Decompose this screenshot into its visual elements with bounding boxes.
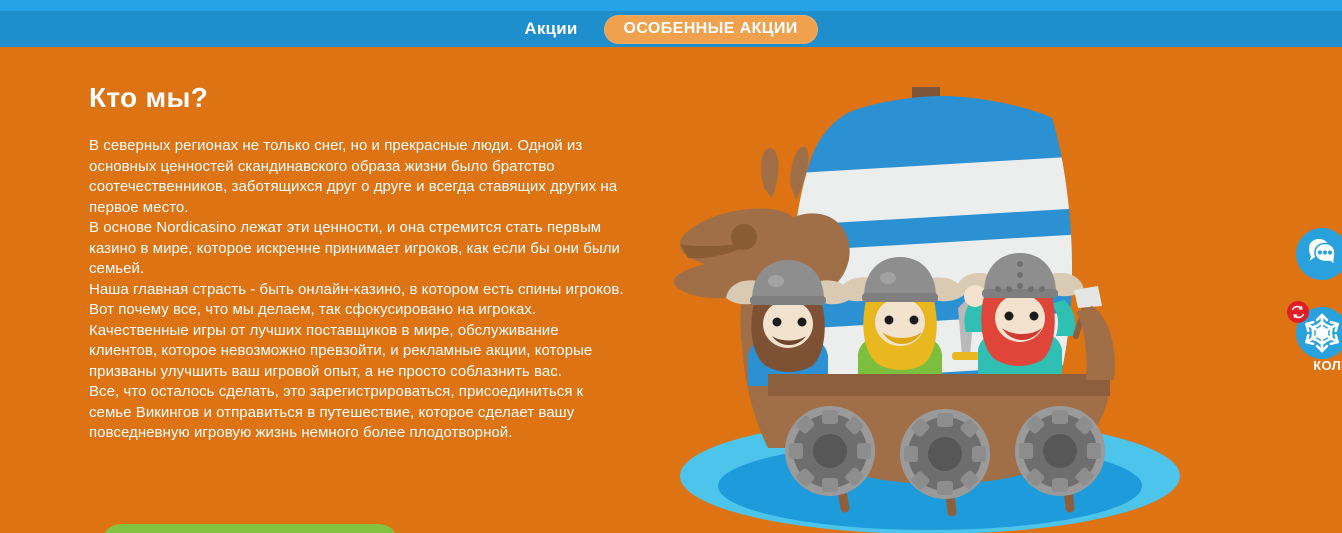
shield-3 (1015, 406, 1105, 496)
cta-register-button[interactable] (100, 524, 400, 533)
shields-row (785, 406, 1105, 499)
chat-bubbles-icon (1296, 228, 1342, 280)
hull-railing (768, 374, 1110, 396)
viking2-eye-left (885, 316, 894, 325)
viking2-helmet-band (862, 293, 938, 302)
wheel-of-fortune-button[interactable] (1296, 307, 1342, 359)
shield-1 (785, 406, 875, 496)
viking3-helmet-band (982, 289, 1058, 298)
wheel-label: КОЛЕ (1313, 358, 1342, 373)
about-paragraph-3: Наша главная страсть - быть онлайн-казин… (89, 280, 629, 301)
viking1-eye-right (798, 318, 807, 327)
nav-items-container: Акции ОСОБЕННЫЕ АКЦИИ (0, 11, 1342, 47)
viking2-helmet-shine (880, 272, 896, 284)
chat-support-button[interactable] (1296, 228, 1342, 280)
about-paragraph-1: В северных регионах не только снег, но и… (89, 136, 629, 218)
viking3-eye-right (1030, 312, 1039, 321)
primary-nav-bar: Акции ОСОБЕННЫЕ АКЦИИ (0, 11, 1342, 47)
dragon-horn-left (761, 148, 779, 198)
nav-link-promotions[interactable]: Акции (524, 20, 577, 38)
page-title: Кто мы? (89, 82, 629, 114)
viking3-eye-left (1005, 312, 1014, 321)
nav-pill-special-promotions[interactable]: ОСОБЕННЫЕ АКЦИИ (604, 15, 818, 44)
viking2-eye-right (910, 316, 919, 325)
hull-stern (1076, 306, 1115, 380)
sync-icon (1290, 304, 1306, 320)
top-accent-strip (0, 0, 1342, 11)
viking1-eye-left (773, 318, 782, 327)
about-paragraph-2: В основе Nordicasino лежат эти ценности,… (89, 218, 629, 280)
viking-longship-illustration (640, 56, 1210, 533)
viking2-sword-hilt (952, 352, 980, 360)
viking1-helmet-shine (768, 275, 784, 287)
about-us-content-column: Кто мы? В северных регионах не только сн… (89, 82, 629, 444)
viking1-helmet-band (750, 296, 826, 305)
wheel-badge[interactable] (1287, 301, 1309, 323)
about-paragraph-5: Качественные игры от лучших поставщиков … (89, 321, 629, 383)
about-paragraph-4: Вот почему все, что мы делаем, так сфоку… (89, 300, 629, 321)
about-paragraph-6: Все, что осталось сделать, это зарегистр… (89, 382, 629, 444)
shield-2 (900, 409, 990, 499)
